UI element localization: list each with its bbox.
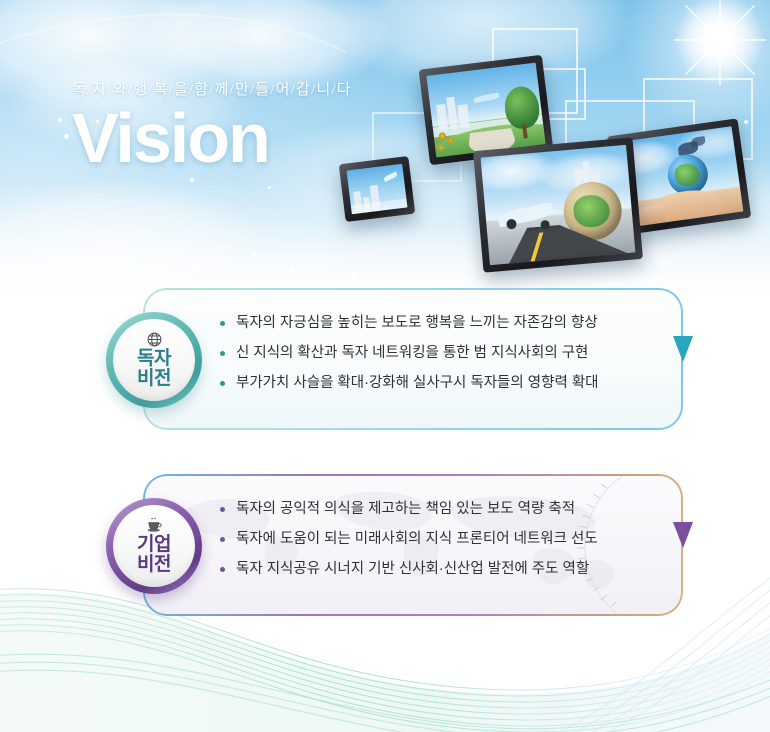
vision-arrow-corporate — [673, 522, 693, 548]
sparkle-dot — [330, 258, 333, 261]
sun-flare-icon — [672, 0, 768, 88]
coffee-cup-icon — [145, 517, 164, 534]
sparkle-dot — [64, 134, 69, 139]
bullet-marker — [220, 537, 225, 542]
vision-sections: 독자의 자긍심을 높히는 보도로 행복을 느끼는 자존감의 향상 신 지식의 확… — [0, 270, 770, 732]
bullet-marker — [220, 567, 225, 572]
frame-road-globe — [473, 137, 643, 272]
vision-block-reader: 독자의 자긍심을 높히는 보도로 행복을 느끼는 자존감의 향상 신 지식의 확… — [0, 270, 770, 438]
vision-bullets-corporate: 독자의 공익적 의식을 제고하는 책임 있는 보도 역량 축적 독자에 도움이 … — [220, 494, 598, 584]
sparkle-dot — [190, 178, 194, 182]
photo-road-globe — [481, 145, 636, 265]
vision-block-corporate: 독자의 공익적 의식을 제고하는 책임 있는 보도 역량 축적 독자에 도움이 … — [0, 456, 770, 624]
bullet-text: 독자의 자긍심을 높히는 보도로 행복을 느끼는 자존감의 향상 — [236, 308, 598, 338]
list-item: 신 지식의 확산과 독자 네트워킹을 통한 범 지식사회의 구현 — [220, 338, 599, 368]
sparkle-dot — [268, 186, 271, 189]
globe-icon — [146, 331, 163, 348]
bullet-text: 독자에 도움이 되는 미래사회의 지식 프론티어 네트워크 선도 — [236, 524, 598, 554]
photo-tree-field — [426, 63, 545, 158]
hero-banner: 독/자/와/행/복/을/함/께/만/들/어/갑/니/다 Vision — [0, 0, 770, 300]
badge-corporate-vision[interactable]: 기업 비전 — [106, 498, 202, 594]
badge-label-line1: 독자 — [137, 349, 171, 369]
badge-label-line1: 기업 — [137, 535, 171, 555]
bullet-text: 신 지식의 확산과 독자 네트워킹을 통한 범 지식사회의 구현 — [236, 338, 588, 368]
sparkle-dot — [744, 120, 748, 124]
vision-bullets-reader: 독자의 자긍심을 높히는 보도로 행복을 느끼는 자존감의 향상 신 지식의 확… — [220, 308, 599, 398]
bullet-text: 부가가치 사슬을 확대·강화해 실사구시 독자들의 영향력 확대 — [236, 368, 599, 398]
hero-text-group: 독/자/와/행/복/을/함/께/만/들/어/갑/니/다 Vision — [72, 78, 352, 173]
bullet-marker — [220, 351, 225, 356]
sparkle-dot — [252, 252, 257, 257]
badge-face: 기업 비전 — [113, 505, 195, 587]
list-item: 독자 지식공유 시너지 기반 신사회·신산업 발전에 주도 역할 — [220, 554, 598, 584]
bullet-marker — [220, 321, 225, 326]
bullet-text: 독자의 공익적 의식을 제고하는 책임 있는 보도 역량 축적 — [236, 494, 575, 524]
sparkle-dot — [58, 118, 62, 122]
badge-face: 독자 비전 — [113, 319, 195, 401]
badge-label-line2: 비전 — [137, 555, 171, 575]
bullet-marker — [220, 381, 225, 386]
list-item: 독자의 자긍심을 높히는 보도로 행복을 느끼는 자존감의 향상 — [220, 308, 599, 338]
badge-label-line2: 비전 — [137, 369, 171, 389]
bullet-marker — [220, 507, 225, 512]
list-item: 부가가치 사슬을 확대·강화해 실사구시 독자들의 영향력 확대 — [220, 368, 599, 398]
vision-arrow-reader — [673, 336, 693, 362]
list-item: 독자의 공익적 의식을 제고하는 책임 있는 보도 역량 축적 — [220, 494, 598, 524]
page-title: Vision — [72, 103, 352, 173]
bullet-text: 독자 지식공유 시너지 기반 신사회·신산업 발전에 주도 역할 — [236, 554, 589, 584]
list-item: 독자에 도움이 되는 미래사회의 지식 프론티어 네트워크 선도 — [220, 524, 598, 554]
photo-city-beach — [347, 164, 408, 214]
badge-reader-vision[interactable]: 독자 비전 — [106, 312, 202, 408]
hero-tagline: 독/자/와/행/복/을/함/께/만/들/어/갑/니/다 — [72, 78, 352, 99]
